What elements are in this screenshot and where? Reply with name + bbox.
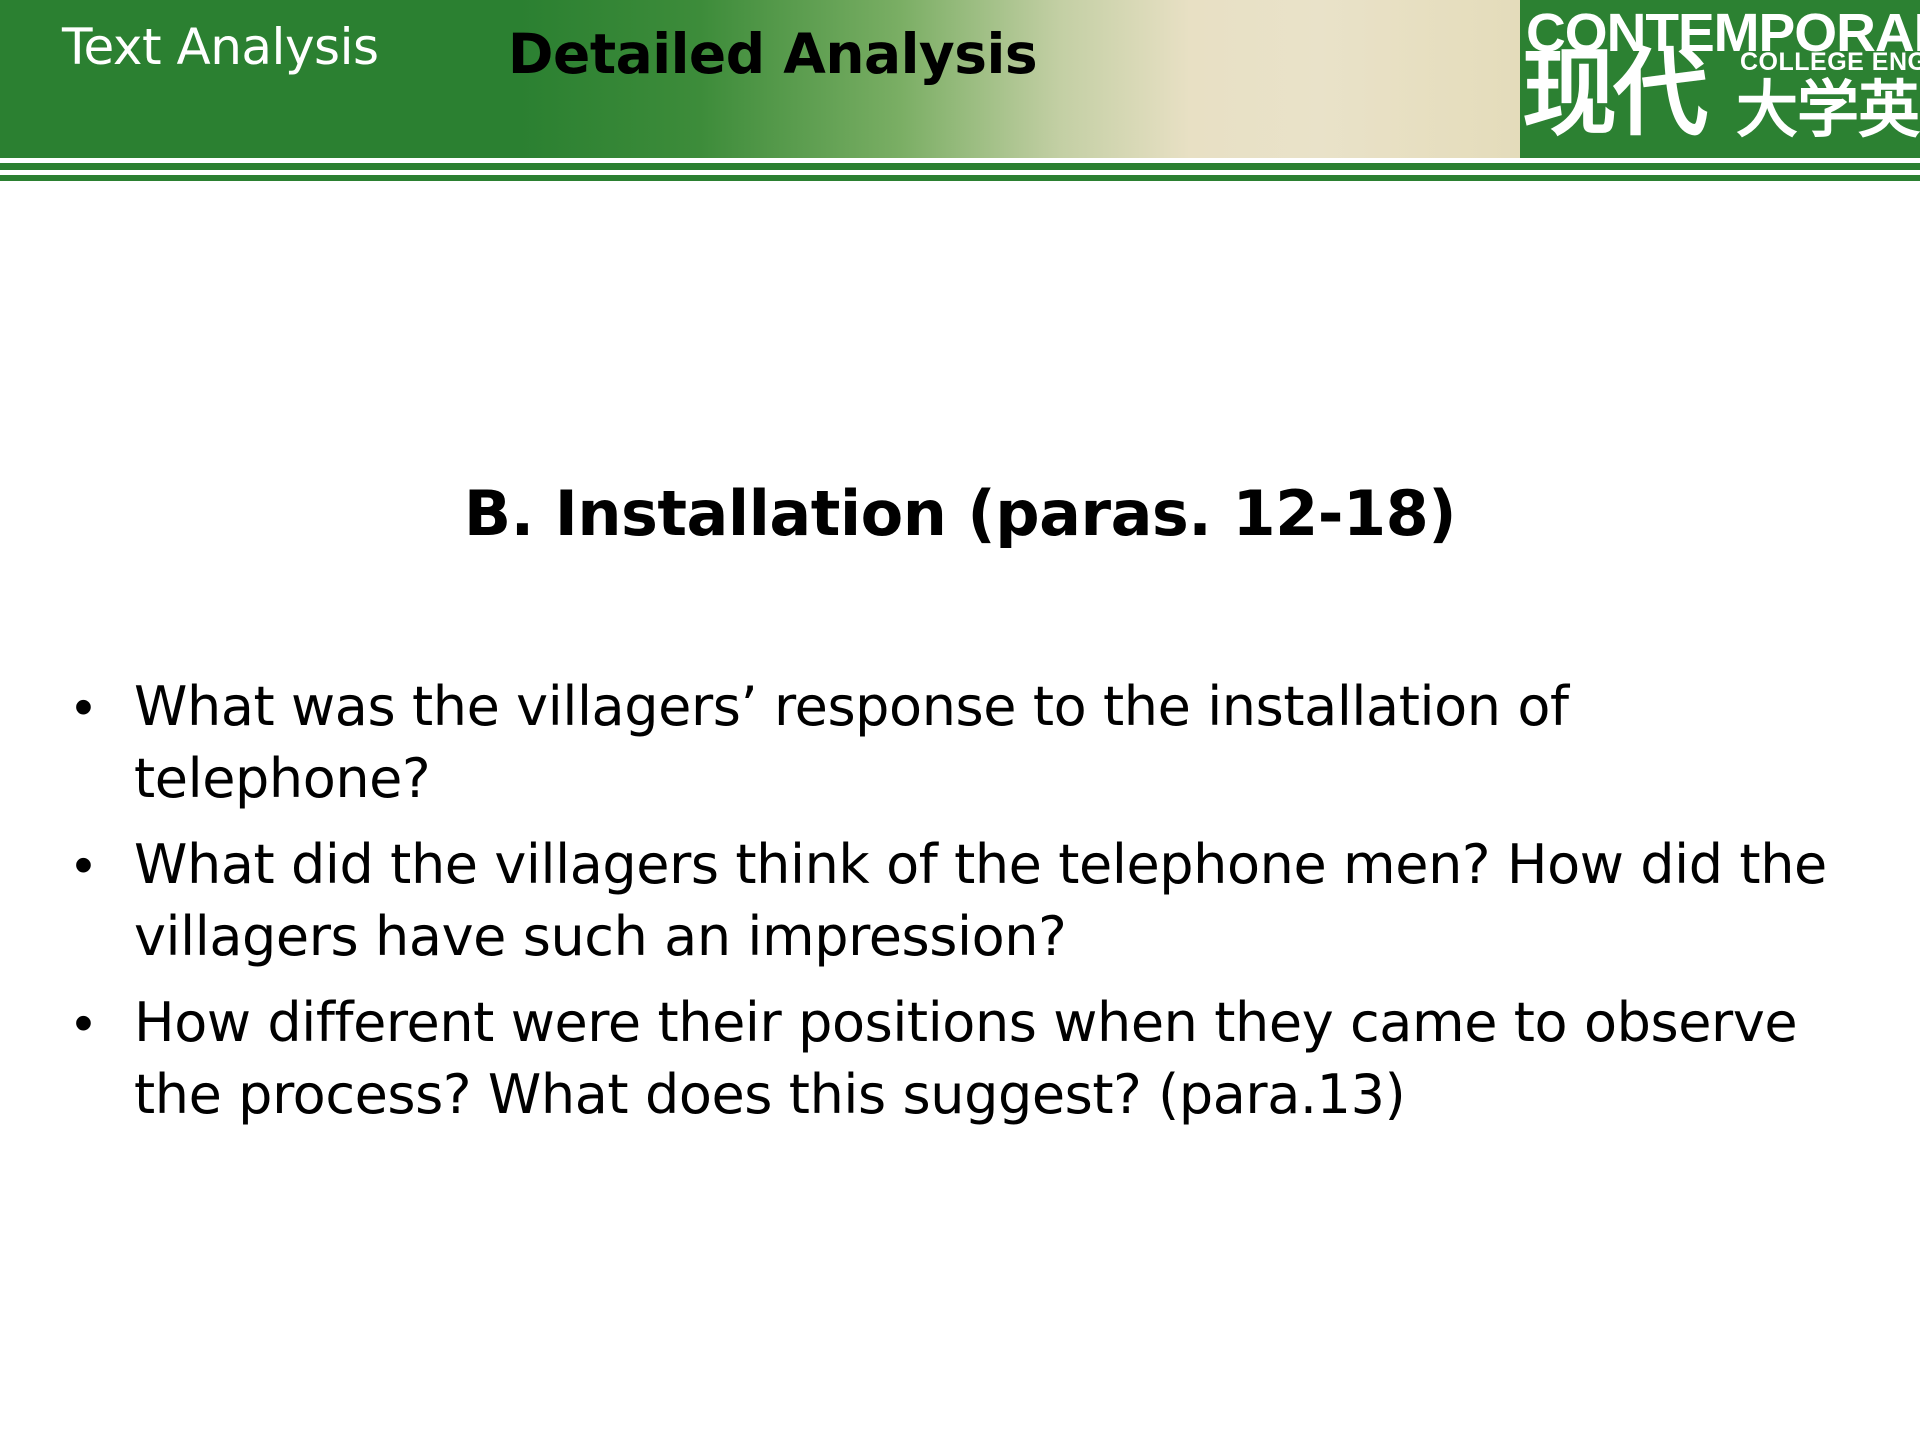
slide-header: Text Analysis Detailed Analysis CONTEMPO…: [0, 0, 1920, 158]
logo-daxue-yingyu-text: 大学英语: [1736, 76, 1920, 144]
bullet-point-icon: •: [62, 987, 134, 1059]
question-bullet-list: • What was the villagers’ response to th…: [62, 671, 1872, 1145]
bullet-point-icon: •: [62, 829, 134, 901]
list-item-text: How different were their positions when …: [134, 987, 1872, 1131]
contemporary-college-english-logo: CONTEMPORARY 现代 COLLEGE ENGLISH 大学英语: [1520, 0, 1920, 158]
slide-title: Detailed Analysis: [0, 22, 1545, 86]
logo-xiandai-text: 现代: [1522, 44, 1704, 144]
list-item-text: What did the villagers think of the tele…: [134, 829, 1872, 973]
bullet-point-icon: •: [62, 671, 134, 743]
list-item: • How different were their positions whe…: [62, 987, 1872, 1131]
section-heading: B. Installation (paras. 12-18): [0, 477, 1920, 550]
list-item: • What did the villagers think of the te…: [62, 829, 1872, 973]
list-item-text: What was the villagers’ response to the …: [134, 671, 1872, 815]
slide-content-area: B. Installation (paras. 12-18) • What wa…: [0, 181, 1920, 1440]
list-item: • What was the villagers’ response to th…: [62, 671, 1872, 815]
header-divider-rule-top: [0, 163, 1920, 170]
